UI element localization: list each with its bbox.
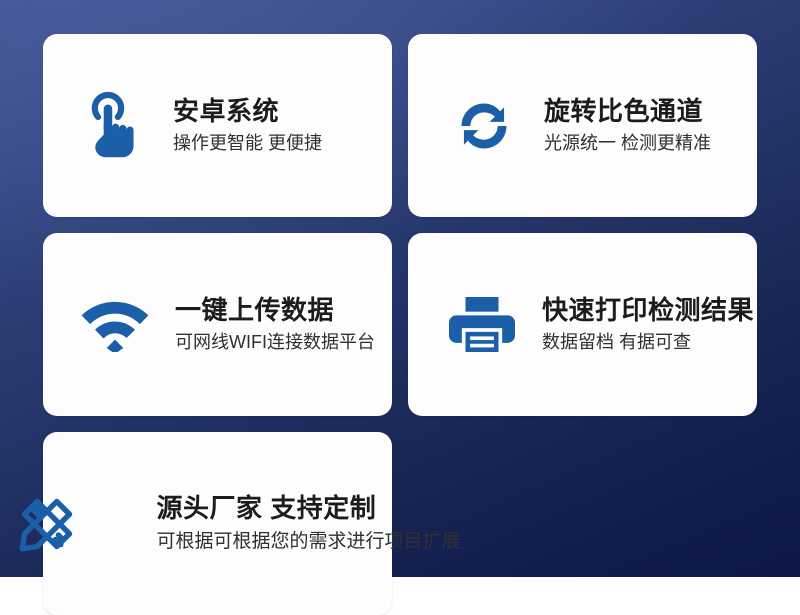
feature-text-block: 安卓系统 操作更智能 更便捷 <box>173 96 322 156</box>
tap-hand-icon <box>67 76 159 176</box>
feature-card-subtitle: 可网线WIFI连接数据平台 <box>175 331 375 354</box>
feature-card-subtitle: 光源统一 检测更精准 <box>544 132 711 155</box>
wifi-icon <box>69 287 161 363</box>
rotate-refresh-icon <box>438 80 530 172</box>
feature-card-subtitle: 数据留档 有据可查 <box>542 331 754 354</box>
feature-card-print-results[interactable]: 快速打印检测结果 数据留档 有据可查 <box>408 233 757 416</box>
feature-card-rotating-channel[interactable]: 旋转比色通道 光源统一 检测更精准 <box>408 34 757 217</box>
feature-card-row-1: 安卓系统 操作更智能 更便捷 旋转比色通道 光源统一 检测更精准 <box>43 34 757 217</box>
feature-card-data-upload[interactable]: 一键上传数据 可网线WIFI连接数据平台 <box>43 233 392 416</box>
feature-card-row-3: 源头厂家 支持定制 可根据可根据您的需求进行项目扩展 <box>43 432 757 615</box>
pencil-ruler-icon <box>0 476 95 572</box>
feature-card-manufacturer-customization[interactable]: 源头厂家 支持定制 可根据可根据您的需求进行项目扩展 <box>43 432 392 615</box>
feature-text-block: 一键上传数据 可网线WIFI连接数据平台 <box>175 295 375 355</box>
feature-card-android-system[interactable]: 安卓系统 操作更智能 更便捷 <box>43 34 392 217</box>
feature-card-title: 旋转比色通道 <box>544 96 711 126</box>
feature-highlights-panel: 安卓系统 操作更智能 更便捷 旋转比色通道 光源统一 检测更精准 <box>0 0 800 577</box>
feature-card-subtitle: 操作更智能 更便捷 <box>173 132 322 155</box>
feature-card-title: 安卓系统 <box>173 96 322 126</box>
feature-card-title: 源头厂家 支持定制 <box>157 493 377 523</box>
feature-text-block: 旋转比色通道 光源统一 检测更精准 <box>544 96 711 156</box>
feature-card-row-2: 一键上传数据 可网线WIFI连接数据平台 快速打印检测结果 数据留档 有据可查 <box>43 233 757 416</box>
printer-icon <box>436 282 528 368</box>
feature-text-block: 源头厂家 支持定制 可根据可根据您的需求进行项目扩展 <box>157 493 461 555</box>
feature-text-block: 快速打印检测结果 数据留档 有据可查 <box>542 295 754 355</box>
feature-card-subtitle: 可根据可根据您的需求进行项目扩展 <box>157 530 461 555</box>
feature-card-title: 快速打印检测结果 <box>542 295 754 325</box>
feature-card-title: 一键上传数据 <box>175 295 375 325</box>
